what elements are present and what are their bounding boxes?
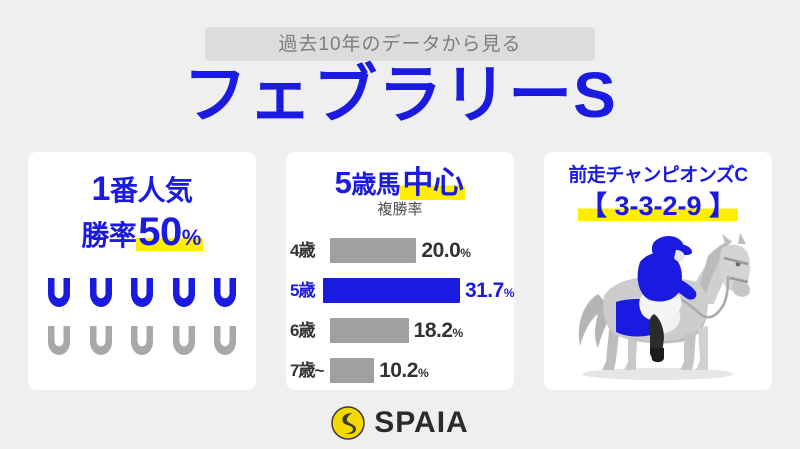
bar [330,238,416,263]
bar-value-label: 20.0% [421,240,470,261]
horseshoe-icon [42,272,76,316]
bar-value-number: 18.2 [414,319,453,342]
age-heading-mid: 歳馬 [351,171,400,199]
cards-row: 1番人気 勝率50% 5歳馬中心 複勝率 4歳20.0%5歳31.7%6歳 [0,152,800,390]
horse-with-jockey-illustration [558,228,758,383]
horseshoe-icon [167,320,201,364]
bar [323,278,460,303]
bar-value-unit: % [453,326,463,340]
win-rate-value: 50 [138,210,182,254]
horseshoe-pictogram [40,272,244,368]
bar-category-label: 5歳 [286,282,323,299]
card-previous-race-record: 前走チャンピオンズC 【 3-3-2-9 】 [544,152,772,390]
favorite-rank-number: 1 [92,170,110,208]
bar-row: 6歳18.2% [286,310,514,350]
bar-value-label: 10.2% [379,360,428,381]
bar-row: 4歳20.0% [286,230,514,270]
favorite-heading: 1番人気 勝率50% [28,170,256,255]
card-favorite-win-rate: 1番人気 勝率50% [28,152,256,390]
horseshoe-icon [42,320,76,364]
bar-category-label: 6歳 [286,322,330,339]
horseshoe-icon [84,320,118,364]
spaia-logo-text: SPAIA [374,408,468,438]
footer-logo: SPAIA [0,396,800,449]
age-bar-chart: 4歳20.0%5歳31.7%6歳18.2%7歳~10.2% [286,230,514,390]
bar-category-label: 4歳 [286,242,330,259]
header-subtitle-pill: 過去10年のデータから見る [205,27,595,61]
win-rate-highlight: 50% [136,220,203,251]
win-rate-label: 勝率 [81,220,136,251]
horseshoe-row-empty [40,320,244,364]
horseshoe-icon [125,320,159,364]
favorite-heading-line1: 1番人気 [28,170,256,208]
page-title: フェブラリーS [0,62,800,129]
horseshoe-icon [125,272,159,316]
bar-value-number: 31.7 [465,279,504,302]
age-heading-number: 5 [335,165,352,200]
age-heading: 5歳馬中心 [286,166,514,200]
bar-row: 5歳31.7% [286,270,514,310]
horseshoe-icon [208,272,242,316]
bar-track: 10.2% [330,350,514,390]
bar-category-label: 7歳~ [286,362,330,379]
age-chart-subtitle: 複勝率 [286,202,514,217]
bar-value-number: 10.2 [379,359,418,382]
bar-value-unit: % [460,246,470,260]
bar-value-unit: % [504,286,514,300]
age-heading-emphasis: 中心 [400,165,465,200]
bar-value-label: 18.2% [414,320,463,341]
bar [330,358,374,383]
bar-track: 20.0% [330,230,514,270]
bar-track: 31.7% [323,270,514,310]
bar-value-number: 20.0 [421,239,460,262]
horseshoe-row-filled [40,272,244,316]
bar-track: 18.2% [330,310,514,350]
spaia-swirl-logo-icon [331,406,365,440]
win-rate-unit: % [182,225,201,250]
horseshoe-icon [208,320,242,364]
previous-race-record: 【 3-3-2-9 】 [544,192,772,222]
bar [330,318,409,343]
bar-value-label: 31.7% [465,280,514,301]
horseshoe-icon [167,272,201,316]
horseshoe-icon [84,272,118,316]
header: 過去10年のデータから見る フェブラリーS [0,0,800,148]
bar-value-unit: % [418,366,428,380]
horse-illustration-svg [558,228,758,383]
previous-race-heading: 前走チャンピオンズC [544,166,772,187]
favorite-rank-label: 番人気 [110,175,193,206]
record-value: 【 3-3-2-9 】 [578,191,738,221]
card-age-place-rate: 5歳馬中心 複勝率 4歳20.0%5歳31.7%6歳18.2%7歳~10.2% [286,152,514,390]
favorite-heading-line2: 勝率50% [81,210,203,255]
header-subtitle-text: 過去10年のデータから見る [278,35,521,54]
bar-row: 7歳~10.2% [286,350,514,390]
